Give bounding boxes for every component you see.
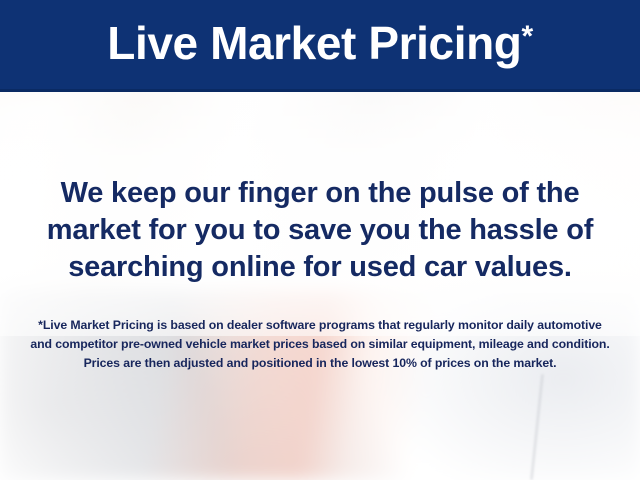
- header-banner: Live Market Pricing*: [0, 0, 640, 92]
- disclaimer-text: *Live Market Pricing is based on dealer …: [28, 316, 612, 373]
- headline: We keep our finger on the pulse of the m…: [22, 175, 618, 285]
- page-title-text: Live Market Pricing: [107, 17, 521, 69]
- page-title-footnote-marker: *: [521, 20, 532, 53]
- page-title: Live Market Pricing*: [97, 20, 543, 70]
- content-area: We keep our finger on the pulse of the m…: [0, 95, 640, 480]
- live-market-pricing-slide: Live Market Pricing* We keep our finger …: [0, 0, 640, 480]
